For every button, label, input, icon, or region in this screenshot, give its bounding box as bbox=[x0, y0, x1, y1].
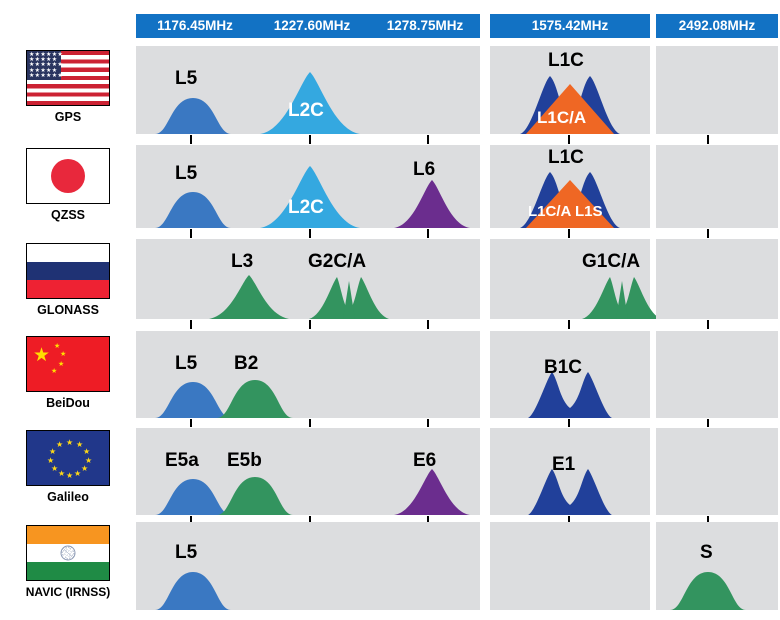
plot-panel-beidou-sband bbox=[656, 331, 778, 418]
tick-mark bbox=[707, 229, 709, 238]
signal-label-beidou-b1c: B1C bbox=[544, 357, 582, 379]
signal-label-gps-l5: L5 bbox=[175, 68, 197, 90]
tick-mark bbox=[707, 516, 709, 522]
plot-panel-galileo-l1: E1 bbox=[490, 428, 650, 515]
tick-mark bbox=[309, 229, 311, 238]
plot-panel-qzss-lowband: L5 L2C L6 bbox=[136, 145, 480, 228]
signal-label-navic-s: S bbox=[700, 542, 713, 564]
plot-panel-gps-sband bbox=[656, 46, 778, 134]
signal-shape-gps-l5 bbox=[155, 98, 231, 134]
cn-flag-icon: ★ ★ ★ ★ ★ bbox=[26, 336, 110, 392]
signal-label-qzss-l1s: L1C/A L1S bbox=[528, 203, 602, 220]
plot-panel-qzss-l1: L1C L1C/A L1S bbox=[490, 145, 650, 228]
us-flag-icon: ★★★★★★★★★★★★★★★★★★★★★★★★★★★★ bbox=[26, 50, 110, 106]
tick-mark bbox=[568, 135, 570, 144]
signal-label-gps-l1c: L1C bbox=[548, 50, 584, 72]
tick-mark bbox=[568, 419, 570, 427]
constellation-name-qzss: QZSS bbox=[0, 208, 136, 222]
plot-panel-beidou-l1: B1C bbox=[490, 331, 650, 418]
constellation-name-galileo: Galileo bbox=[0, 490, 136, 504]
signal-label-gps-l2c: L2C bbox=[288, 100, 324, 122]
plot-panel-gps-lowband: L5 L2C bbox=[136, 46, 480, 134]
tick-mark bbox=[707, 320, 709, 329]
frequency-bar-l1: 1575.42MHz bbox=[490, 14, 650, 38]
signal-label-glonass-l3: L3 bbox=[231, 251, 253, 273]
tick-mark bbox=[309, 516, 311, 522]
frequency-label-1227: 1227.60MHz bbox=[254, 14, 370, 38]
plot-panel-glonass-l1: G1C/A bbox=[490, 239, 650, 319]
plot-panel-navic-lowband: L5 bbox=[136, 522, 480, 610]
plot-panel-qzss-sband bbox=[656, 145, 778, 228]
signal-label-qzss-l5: L5 bbox=[175, 163, 197, 185]
signal-label-qzss-l1c: L1C bbox=[548, 147, 584, 169]
plot-panel-glonass-sband bbox=[656, 239, 778, 319]
tick-mark bbox=[190, 135, 192, 144]
signal-shape-qzss-l5 bbox=[155, 192, 231, 228]
constellation-name-gps: GPS bbox=[0, 110, 136, 124]
plot-panel-navic-sband: S bbox=[656, 522, 778, 610]
tick-mark bbox=[707, 135, 709, 144]
signal-shape-qzss-l6 bbox=[394, 180, 470, 228]
signal-label-gps-l1ca: L1C/A bbox=[537, 108, 586, 128]
signal-label-galileo-e5b: E5b bbox=[227, 450, 262, 472]
plot-panel-beidou-lowband: L5 B2 bbox=[136, 331, 480, 418]
signal-label-beidou-l5: L5 bbox=[175, 353, 197, 375]
signal-label-galileo-e6: E6 bbox=[413, 450, 436, 472]
frequency-bar-lowband: 1176.45MHz 1227.60MHz 1278.75MHz bbox=[136, 14, 480, 38]
frequency-bar-sband: 2492.08MHz bbox=[656, 14, 778, 38]
in-flag-icon bbox=[26, 525, 110, 581]
signal-label-qzss-l2c: L2C bbox=[288, 197, 324, 219]
plot-panel-gps-l1: L1C L1C/A bbox=[490, 46, 650, 134]
tick-mark bbox=[427, 516, 429, 522]
plot-panel-glonass-lowband: L3 G2C/A bbox=[136, 239, 480, 319]
constellation-name-glonass: GLONASS bbox=[0, 303, 136, 317]
tick-mark bbox=[427, 419, 429, 427]
tick-mark bbox=[427, 320, 429, 329]
tick-mark bbox=[707, 419, 709, 427]
signal-label-navic-l5: L5 bbox=[175, 542, 197, 564]
tick-mark bbox=[190, 419, 192, 427]
constellation-name-beidou: BeiDou bbox=[0, 396, 136, 410]
tick-mark bbox=[427, 229, 429, 238]
plot-panel-galileo-lowband: E5a E5b E6 bbox=[136, 428, 480, 515]
frequency-label-1278: 1278.75MHz bbox=[370, 14, 480, 38]
tick-mark bbox=[190, 516, 192, 522]
tick-mark bbox=[568, 320, 570, 329]
signal-shape-navic-l5 bbox=[155, 572, 231, 610]
frequency-label-1575: 1575.42MHz bbox=[490, 14, 650, 38]
frequency-label-2492: 2492.08MHz bbox=[656, 14, 778, 38]
tick-mark bbox=[190, 320, 192, 329]
jp-flag-icon bbox=[26, 148, 110, 204]
signal-shape-galileo-e6 bbox=[394, 469, 470, 515]
signal-label-galileo-e5a: E5a bbox=[165, 450, 199, 472]
signal-label-beidou-b2: B2 bbox=[234, 353, 258, 375]
tick-mark bbox=[309, 419, 311, 427]
signal-label-galileo-e1: E1 bbox=[552, 454, 575, 476]
signal-label-qzss-l6: L6 bbox=[413, 159, 435, 181]
tick-mark bbox=[568, 229, 570, 238]
signal-shape-galileo-e5b bbox=[217, 477, 293, 515]
tick-mark bbox=[309, 320, 311, 329]
tick-mark bbox=[309, 135, 311, 144]
signal-label-glonass-g2ca: G2C/A bbox=[308, 251, 366, 273]
signal-shape-glonass-l3 bbox=[209, 275, 289, 319]
tick-mark bbox=[190, 229, 192, 238]
tick-mark bbox=[568, 516, 570, 522]
gnss-frequency-chart: 1176.45MHz 1227.60MHz 1278.75MHz 1575.42… bbox=[0, 0, 780, 620]
plot-panel-navic-l1 bbox=[490, 522, 650, 610]
signal-shape-glonass-g1ca bbox=[582, 275, 662, 319]
tick-mark bbox=[427, 135, 429, 144]
signal-shape-beidou-b2 bbox=[217, 380, 293, 418]
constellation-name-navic: NAVIC (IRNSS) bbox=[0, 585, 136, 599]
eu-flag-icon: ★ ★ ★ ★ ★ ★ ★ ★ ★ ★ ★ ★ bbox=[26, 430, 110, 486]
ru-flag-icon bbox=[26, 243, 110, 299]
signal-label-glonass-g1ca: G1C/A bbox=[582, 251, 640, 273]
signal-shape-glonass-g2ca bbox=[309, 275, 389, 319]
signal-shape-navic-s bbox=[670, 572, 746, 610]
frequency-label-1176: 1176.45MHz bbox=[136, 14, 254, 38]
plot-panel-galileo-sband bbox=[656, 428, 778, 515]
